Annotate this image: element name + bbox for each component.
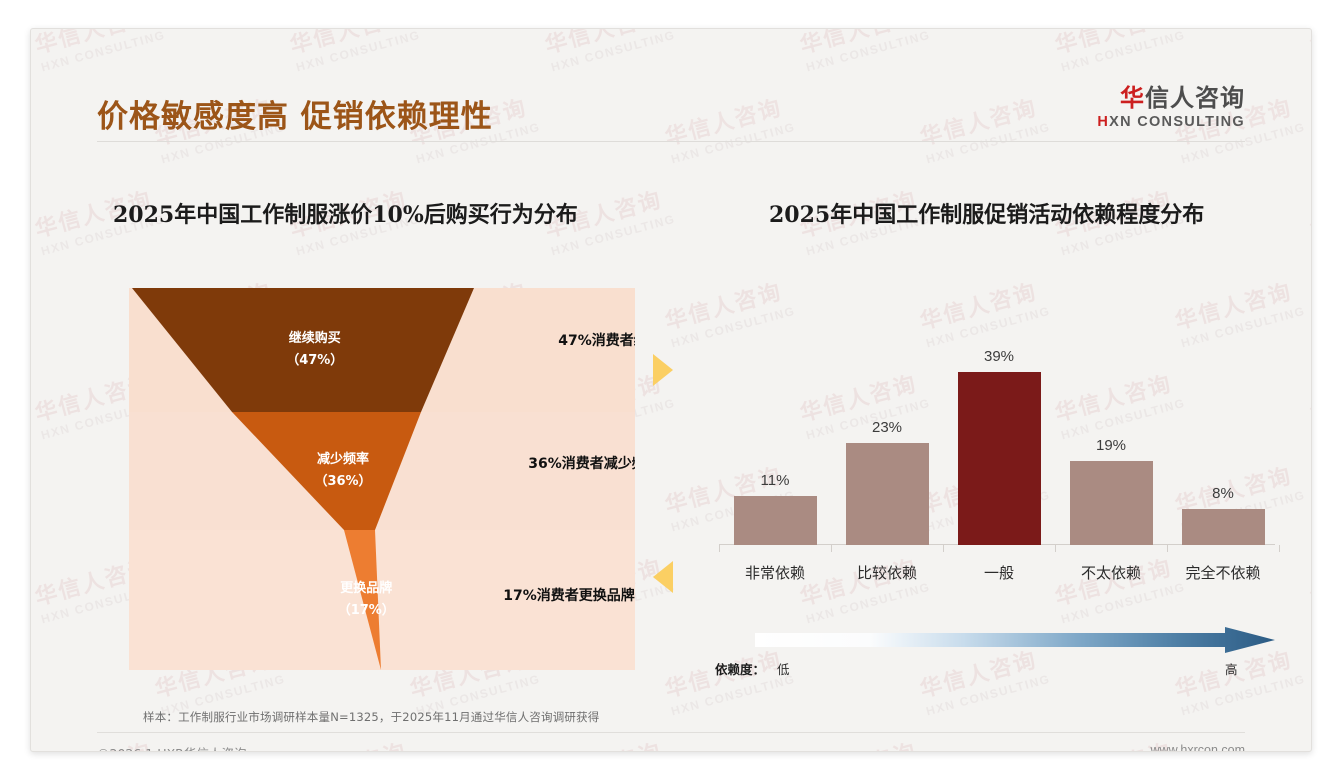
bar-category-label: 不太依赖 bbox=[1055, 562, 1167, 583]
watermark-tile: 华信人咨询HXN CONSULTING bbox=[31, 640, 32, 719]
logo-chinese-accent: 华 bbox=[1120, 84, 1145, 112]
watermark-tile: 华信人咨询HXN CONSULTING bbox=[541, 732, 677, 751]
funnel-side-label: 36%消费者减少频率 bbox=[528, 455, 635, 472]
logo-chinese: 华信人咨询 bbox=[1097, 85, 1245, 111]
watermark-tile: 华信人咨询HXN CONSULTING bbox=[1306, 548, 1311, 627]
watermark-tile: 华信人咨询HXN CONSULTING bbox=[1306, 732, 1311, 751]
legend-label: 依赖度： bbox=[715, 659, 765, 678]
bar-column[interactable]: 11%非常依赖 bbox=[719, 472, 831, 545]
copyright-text: ©2026.1 HXR华信人咨询 bbox=[97, 743, 246, 752]
funnel-segment-label: 更换品牌 bbox=[340, 580, 392, 596]
funnel-segment-label: 减少频率 bbox=[317, 451, 369, 467]
watermark-tile: 华信人咨询HXN CONSULTING bbox=[286, 732, 422, 751]
bar-rect[interactable] bbox=[1070, 461, 1153, 545]
dependency-gradient-legend: 依赖度： 低 高 bbox=[715, 627, 1275, 683]
bar-category-label: 完全不依赖 bbox=[1167, 562, 1279, 583]
bar-column[interactable]: 23%比较依赖 bbox=[831, 419, 943, 545]
bar-column[interactable]: 39%一般 bbox=[943, 348, 1055, 545]
bar-category-label: 比较依赖 bbox=[831, 562, 943, 583]
axis-tick bbox=[943, 545, 944, 552]
left-chart-title: 2025年中国工作制服涨价10%后购买行为分布 bbox=[113, 197, 578, 229]
legend-high-label: 高 bbox=[1225, 659, 1238, 678]
logo-english-accent: H bbox=[1097, 114, 1109, 130]
bar-rect[interactable] bbox=[1182, 509, 1265, 545]
gradient-arrow-svg bbox=[755, 627, 1275, 653]
bar-value-label: 39% bbox=[943, 348, 1055, 365]
bar-value-label: 23% bbox=[831, 419, 943, 436]
funnel-side-label: 17%消费者更换品牌 bbox=[503, 587, 635, 604]
website-url[interactable]: www.hxrcon.com bbox=[1151, 743, 1245, 752]
watermark-tile: 华信人咨询HXN CONSULTING bbox=[796, 732, 932, 751]
bar-column[interactable]: 19%不太依赖 bbox=[1055, 437, 1167, 545]
funnel-segment-label: （17%） bbox=[338, 602, 395, 618]
bar-category-label: 一般 bbox=[943, 562, 1055, 583]
company-logo: 华信人咨询 HXN CONSULTING bbox=[1097, 85, 1245, 130]
bar-rect[interactable] bbox=[846, 443, 929, 545]
logo-chinese-rest: 信人咨询 bbox=[1145, 84, 1245, 112]
bar-column[interactable]: 8%完全不依赖 bbox=[1167, 485, 1279, 545]
funnel-chart-svg: 继续购买（47%）47%消费者继续购买减少频率（36%）36%消费者减少频率更换… bbox=[129, 288, 635, 670]
axis-tick bbox=[831, 545, 832, 552]
bar-category-label: 非常依赖 bbox=[719, 562, 831, 583]
axis-tick bbox=[719, 545, 720, 552]
bar-rect[interactable] bbox=[734, 496, 817, 545]
axis-tick bbox=[1167, 545, 1168, 552]
slide-canvas: 华信人咨询HXN CONSULTING华信人咨询HXN CONSULTING华信… bbox=[30, 28, 1312, 752]
funnel-side-label: 47%消费者继续购买 bbox=[558, 332, 635, 349]
bar-value-label: 11% bbox=[719, 472, 831, 489]
funnel-segment-label: （36%） bbox=[314, 473, 371, 489]
funnel-chart: 继续购买（47%）47%消费者继续购买减少频率（36%）36%消费者减少频率更换… bbox=[129, 288, 635, 670]
footer-divider bbox=[97, 732, 1245, 733]
slide-header: 价格敏感度高 促销依赖理性 华信人咨询 HXN CONSULTING bbox=[31, 29, 1311, 149]
watermark-tile: 华信人咨询HXN CONSULTING bbox=[31, 456, 32, 535]
triangle-left-icon bbox=[653, 561, 673, 593]
bar-value-label: 8% bbox=[1167, 485, 1279, 502]
gradient-arrow-icon bbox=[755, 627, 1275, 653]
watermark-tile: 华信人咨询HXN CONSULTING bbox=[1306, 180, 1311, 259]
logo-english: HXN CONSULTING bbox=[1097, 114, 1245, 130]
axis-tick bbox=[1279, 545, 1280, 552]
watermark-tile: 华信人咨询HXN CONSULTING bbox=[1306, 364, 1311, 443]
dependency-bar-chart: 11%非常依赖23%比较依赖39%一般19%不太依赖8%完全不依赖 bbox=[715, 315, 1275, 597]
watermark-tile: 华信人咨询HXN CONSULTING bbox=[31, 272, 32, 351]
title-divider bbox=[97, 141, 1245, 142]
axis-tick bbox=[1055, 545, 1056, 552]
page-title: 价格敏感度高 促销依赖理性 bbox=[97, 91, 493, 136]
triangle-right-icon bbox=[653, 354, 673, 386]
bar-value-label: 19% bbox=[1055, 437, 1167, 454]
funnel-segment-label: 继续购买 bbox=[289, 330, 341, 346]
bar-rect[interactable] bbox=[958, 372, 1041, 545]
sample-footnote: 样本：工作制服行业市场调研样本量N=1325，于2025年11月通过华信人咨询调… bbox=[143, 709, 600, 725]
right-chart-title: 2025年中国工作制服促销活动依赖程度分布 bbox=[769, 197, 1204, 229]
logo-english-rest: XN CONSULTING bbox=[1109, 114, 1245, 130]
legend-low-label: 低 bbox=[777, 659, 790, 678]
funnel-segment-label: （47%） bbox=[286, 352, 343, 368]
